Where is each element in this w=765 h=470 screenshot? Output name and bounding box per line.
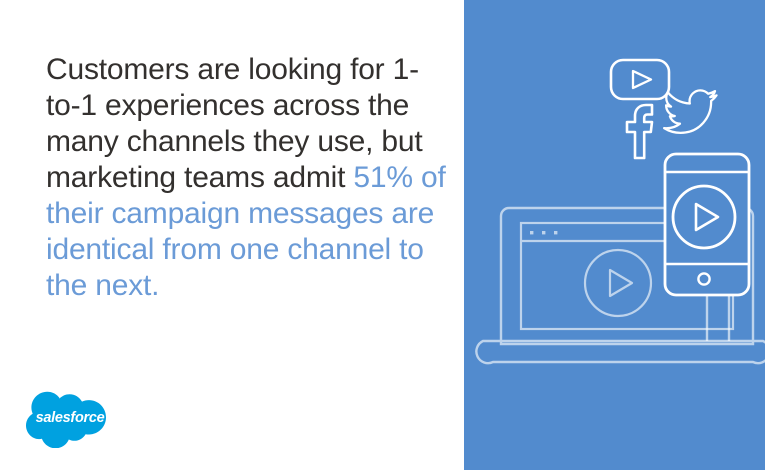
cloud-icon: salesforce: [26, 388, 116, 448]
twitter-icon: [664, 90, 716, 133]
right-illustration-panel: [464, 0, 765, 470]
youtube-icon: [611, 60, 669, 99]
multichannel-illustration: [464, 0, 765, 470]
headline-text: Customers are looking for 1-to-1 experie…: [46, 52, 446, 304]
logo-wordmark: salesforce: [36, 410, 105, 426]
browser-dots: [530, 231, 557, 234]
left-content-panel: Customers are looking for 1-to-1 experie…: [0, 0, 464, 470]
laptop-play-icon: [585, 250, 651, 316]
slide-canvas: Customers are looking for 1-to-1 experie…: [0, 0, 765, 470]
salesforce-logo: salesforce: [26, 388, 116, 448]
phone-stand: [707, 295, 729, 341]
facebook-icon: [627, 105, 652, 158]
smartphone: [665, 154, 749, 295]
